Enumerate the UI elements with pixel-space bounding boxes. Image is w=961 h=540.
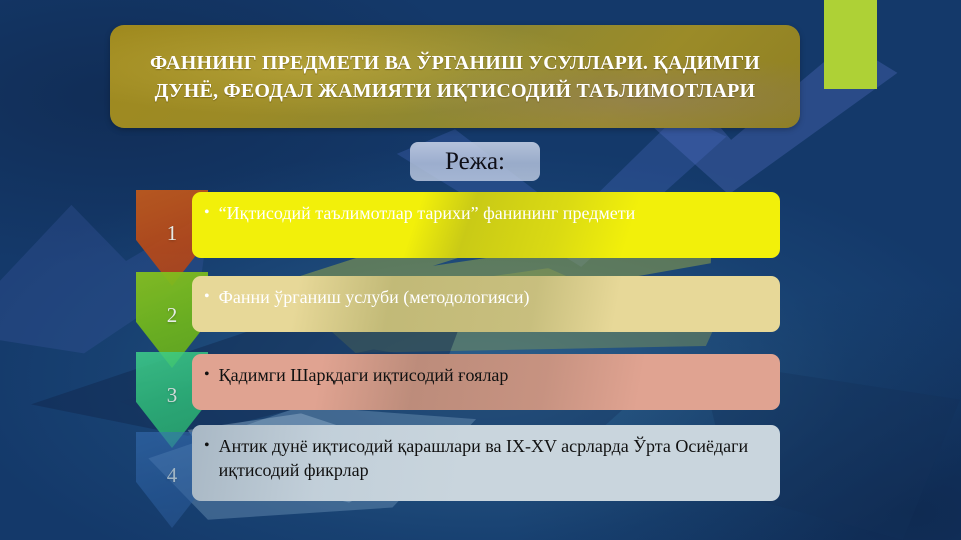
slide-title: ФАННИНГ ПРЕДМЕТИ ВА ЎРГАНИШ УСУЛЛАРИ. ҚА… (132, 49, 778, 105)
agenda-row-2: • Фанни ўрганиш услуби (методологияси) (192, 276, 780, 332)
chevron-number-4: 4 (167, 465, 178, 486)
agenda-label-text: Режа: (445, 148, 505, 175)
agenda-label-box: Режа: (410, 142, 540, 181)
bullet-icon: • (204, 201, 210, 225)
chevron-number-2: 2 (167, 305, 178, 326)
title-plate: ФАННИНГ ПРЕДМЕТИ ВА ЎРГАНИШ УСУЛЛАРИ. ҚА… (110, 25, 800, 128)
agenda-item-text-3: Қадимги Шарқдаги иқтисодий ғоялар (219, 363, 509, 387)
agenda-row-4: • Антик дунё иқтисодий қарашлари ва IX-X… (192, 425, 780, 501)
agenda-item-text-4: Антик дунё иқтисодий қарашлари ва IX-XV … (219, 434, 764, 482)
bullet-icon: • (204, 285, 210, 309)
chevron-number-3: 3 (167, 385, 178, 406)
bullet-icon: • (204, 434, 210, 458)
accent-green-rectangle (824, 0, 877, 89)
agenda-row-3: • Қадимги Шарқдаги иқтисодий ғоялар (192, 354, 780, 410)
agenda-item-text-2: Фанни ўрганиш услуби (методологияси) (219, 285, 530, 309)
agenda-item-text-1: “Иқтисодий таълимотлар тарихи” фанининг … (219, 201, 636, 225)
bullet-icon: • (204, 363, 210, 387)
chevron-number-1: 1 (167, 223, 178, 244)
agenda-row-1: • “Иқтисодий таълимотлар тарихи” фанинин… (192, 192, 780, 258)
slide-canvas: ФАННИНГ ПРЕДМЕТИ ВА ЎРГАНИШ УСУЛЛАРИ. ҚА… (0, 0, 961, 540)
